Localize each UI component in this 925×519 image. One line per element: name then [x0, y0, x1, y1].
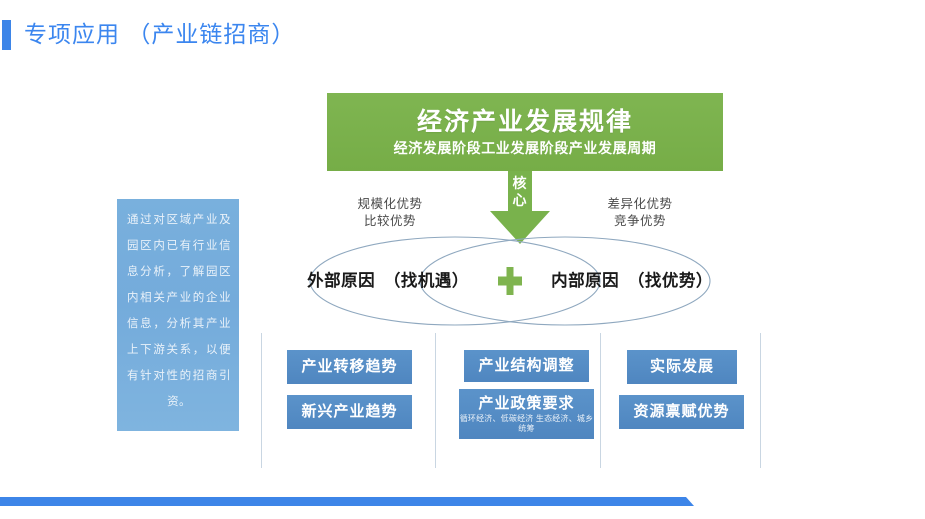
plus-icon: [496, 264, 524, 298]
tag-resource-endowment-advantage-label: 资源禀赋优势: [619, 395, 744, 429]
column-divider-1: [261, 333, 262, 468]
tag-emerging-industry-label: 新兴产业趋势: [287, 395, 412, 429]
left-info-panel-text: 通过对区域产业及园区内已有行业信息分析，了解园区内相关产业的企业信息，分析其产业…: [127, 207, 231, 415]
left-info-panel: 通过对区域产业及园区内已有行业信息分析，了解园区内相关产业的企业信息，分析其产业…: [117, 199, 239, 431]
tag-actual-development-label: 实际发展: [627, 350, 737, 384]
tag-emerging-industry[interactable]: 新兴产业趋势: [287, 395, 412, 429]
core-arrow-label-line1: 核: [484, 175, 556, 192]
core-arrow-label-line2: 心: [484, 192, 556, 209]
header-accent-bar: [2, 20, 11, 50]
tag-resource-endowment-advantage[interactable]: 资源禀赋优势: [619, 395, 744, 429]
green-banner-subtitle: 经济发展阶段工业发展阶段产业发展周期: [327, 138, 723, 158]
tag-industry-transfer[interactable]: 产业转移趋势: [287, 350, 412, 384]
venn-diagram: 外部原因 （找机遇） 内部原因 （找优势）: [255, 236, 765, 326]
tag-industry-policy-requirement[interactable]: 产业政策要求 循环经济、低碳经济 生态经济、城乡统筹: [459, 389, 594, 439]
venn-right-ellipse-text: 内部原因 （找优势）: [507, 236, 757, 326]
green-banner: 经济产业发展规律 经济发展阶段工业发展阶段产业发展周期: [327, 93, 723, 171]
green-banner-title: 经济产业发展规律: [327, 102, 723, 138]
core-down-arrow-icon: 核 心: [484, 171, 556, 245]
venn-left-ellipse-text: 外部原因 （找机遇）: [263, 236, 513, 326]
tag-industry-structure-adjustment-label: 产业结构调整: [464, 350, 589, 382]
tag-industry-structure-adjustment[interactable]: 产业结构调整: [464, 350, 589, 382]
bottom-decorative-bar: [0, 497, 694, 506]
tag-actual-development[interactable]: 实际发展: [627, 350, 737, 384]
core-arrow-label: 核 心: [484, 175, 556, 209]
venn-left-side-label: 规模化优势 比较优势: [325, 196, 455, 230]
bottom-columns-area: 产业转移趋势 新兴产业趋势 产业结构调整 产业政策要求 循环经济、低碳经济 生态…: [255, 333, 765, 468]
tag-industry-transfer-label: 产业转移趋势: [287, 350, 412, 384]
tag-industry-policy-requirement-label: 产业政策要求: [459, 394, 594, 413]
column-divider-3: [600, 333, 601, 468]
column-divider-4: [760, 333, 761, 468]
tag-industry-policy-requirement-subtext: 循环经济、低碳经济 生态经济、城乡统筹: [459, 414, 594, 434]
page-title: 专项应用 （产业链招商）: [24, 17, 295, 51]
slide-header: 专项应用 （产业链招商）: [0, 18, 925, 52]
venn-right-side-label: 差异化优势 竞争优势: [575, 196, 705, 230]
column-divider-2: [435, 333, 436, 468]
